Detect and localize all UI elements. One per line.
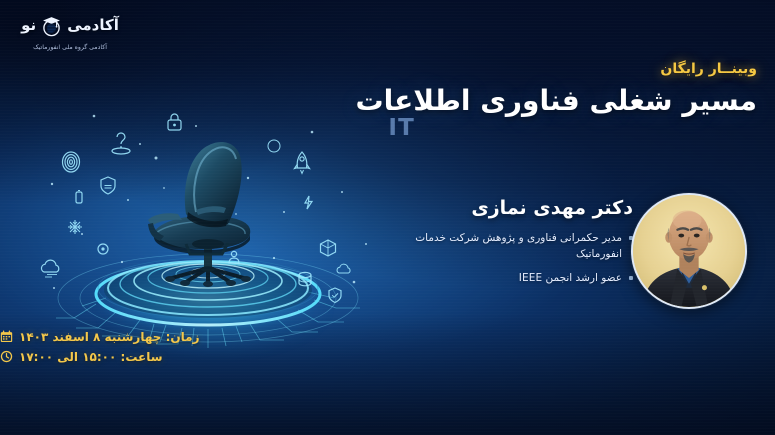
logo-tagline: آکادمی گروه ملی انفورماتیک — [14, 44, 126, 51]
event-time-row: ساعت: ۱۵:۰۰ الی ۱۷:۰۰ — [0, 350, 615, 363]
event-date-row: زمان: چهارشنبه ۸ اسفند ۱۴۰۳ — [0, 330, 615, 343]
bullet-icon — [629, 276, 633, 280]
speaker-block: دکتر مهدی نمازی مدیر حکمرانی فناوری و پژ… — [0, 198, 633, 295]
event-meta: زمان: چهارشنبه ۸ اسفند ۱۴۰۳ ساعت: ۱۵:۰۰ … — [0, 330, 615, 370]
event-time: ساعت: ۱۵:۰۰ الی ۱۷:۰۰ — [19, 351, 163, 363]
page-subtitle: IT — [0, 117, 757, 140]
avatar — [631, 193, 747, 309]
speaker-name: دکتر مهدی نمازی — [0, 198, 633, 220]
event-date: زمان: چهارشنبه ۸ اسفند ۱۴۰۳ — [19, 331, 199, 343]
page-title: مسیر شغلی فناوری اطلاعات — [0, 85, 757, 116]
kicker-badge: وبینــار رایگان — [0, 62, 757, 76]
headline-block: وبینــار رایگان مسیر شغلی فناوری اطلاعات… — [0, 62, 757, 140]
brand-logo: آکادمی نو آکادمی گروه ملی انفورماتیک — [14, 8, 126, 51]
speaker-credentials: مدیر حکمرانی فناوری و پژوهش شرکت خدمات ا… — [0, 230, 633, 287]
graduation-cap-icon — [38, 12, 65, 39]
logo-word-right: آکادمی — [67, 18, 119, 33]
credential-text: عضو ارشد انجمن IEEE — [519, 270, 622, 286]
list-item: مدیر حکمرانی فناوری و پژوهش شرکت خدمات ا… — [0, 230, 633, 263]
list-item: عضو ارشد انجمن IEEE — [0, 270, 633, 286]
logo-mark: آکادمی نو — [14, 8, 126, 42]
clock-icon — [0, 350, 13, 363]
credential-text: مدیر حکمرانی فناوری و پژوهش شرکت خدمات ا… — [390, 230, 622, 263]
webinar-poster: آکادمی نو آکادمی گروه ملی انفورماتیک — [0, 0, 775, 435]
logo-word-left: نو — [21, 18, 36, 33]
shield-icon — [101, 177, 115, 194]
rocket-icon — [295, 152, 310, 174]
calendar-icon — [0, 330, 13, 343]
fingerprint-icon — [63, 152, 80, 172]
circle-icon — [268, 140, 280, 152]
